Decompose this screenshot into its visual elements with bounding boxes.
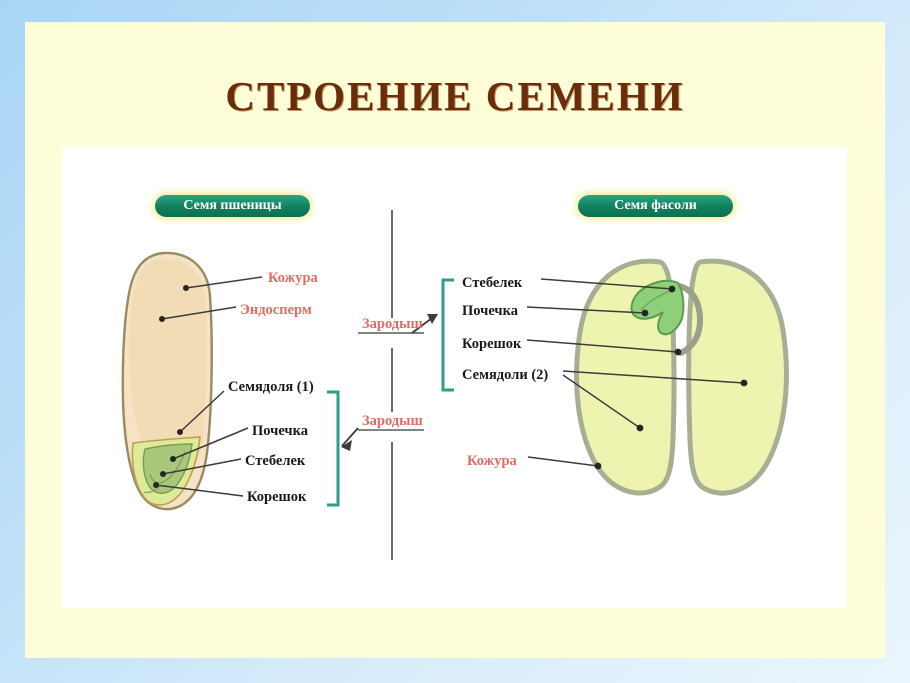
diagram-svg-layer bbox=[0, 0, 910, 683]
dot-bean-semyadoli-left bbox=[637, 425, 644, 432]
bracket-bean-embryo bbox=[443, 280, 454, 390]
dot-wheat-semyadolya bbox=[177, 429, 183, 435]
arrow-embryo-to-wheat bbox=[341, 428, 358, 451]
label-wheat-semyadolya: Семядоля (1) bbox=[228, 379, 314, 396]
dot-wheat-endosperm bbox=[159, 316, 165, 322]
label-bean-stebelek: Стебелек bbox=[462, 275, 522, 292]
label-wheat-stebelek: Стебелек bbox=[245, 453, 305, 470]
dot-bean-kozhura bbox=[595, 463, 602, 470]
wheat-seed-figure bbox=[123, 253, 212, 509]
label-bean-koreshok: Корешок bbox=[462, 336, 521, 353]
dot-bean-koreshok bbox=[675, 349, 682, 356]
leader-bean-kozhura bbox=[528, 457, 598, 466]
dot-bean-pochechka bbox=[642, 310, 649, 317]
label-bean-kozhura: Кожура bbox=[467, 453, 517, 470]
dot-bean-semyadoli-right bbox=[741, 380, 748, 387]
bean-seed-figure bbox=[577, 261, 787, 493]
label-bean-pochechka: Почечка bbox=[462, 303, 518, 320]
label-embryo-wheat: Зародыш bbox=[362, 316, 423, 333]
slide-root: СТРОЕНИЕ СЕМЕНИ Семя пшеницы Семя фасоли bbox=[0, 0, 910, 683]
label-bean-semyadoli: Семядоли (2) bbox=[462, 367, 548, 384]
dot-wheat-kozhura bbox=[183, 285, 189, 291]
label-wheat-pochechka: Почечка bbox=[252, 423, 308, 440]
label-wheat-kozhura: Кожура bbox=[268, 270, 318, 287]
bean-cotyledon-right bbox=[689, 261, 787, 493]
label-wheat-endosperm: Эндосперм bbox=[240, 302, 312, 319]
label-wheat-koreshok: Корешок bbox=[247, 489, 306, 506]
dot-wheat-stebelek bbox=[160, 471, 166, 477]
bracket-wheat-embryo bbox=[327, 392, 338, 505]
label-embryo-bean: Зародыш bbox=[362, 413, 423, 430]
dot-wheat-koreshok bbox=[153, 482, 159, 488]
dot-bean-stebelek bbox=[669, 286, 676, 293]
dot-wheat-pochechka bbox=[170, 456, 176, 462]
